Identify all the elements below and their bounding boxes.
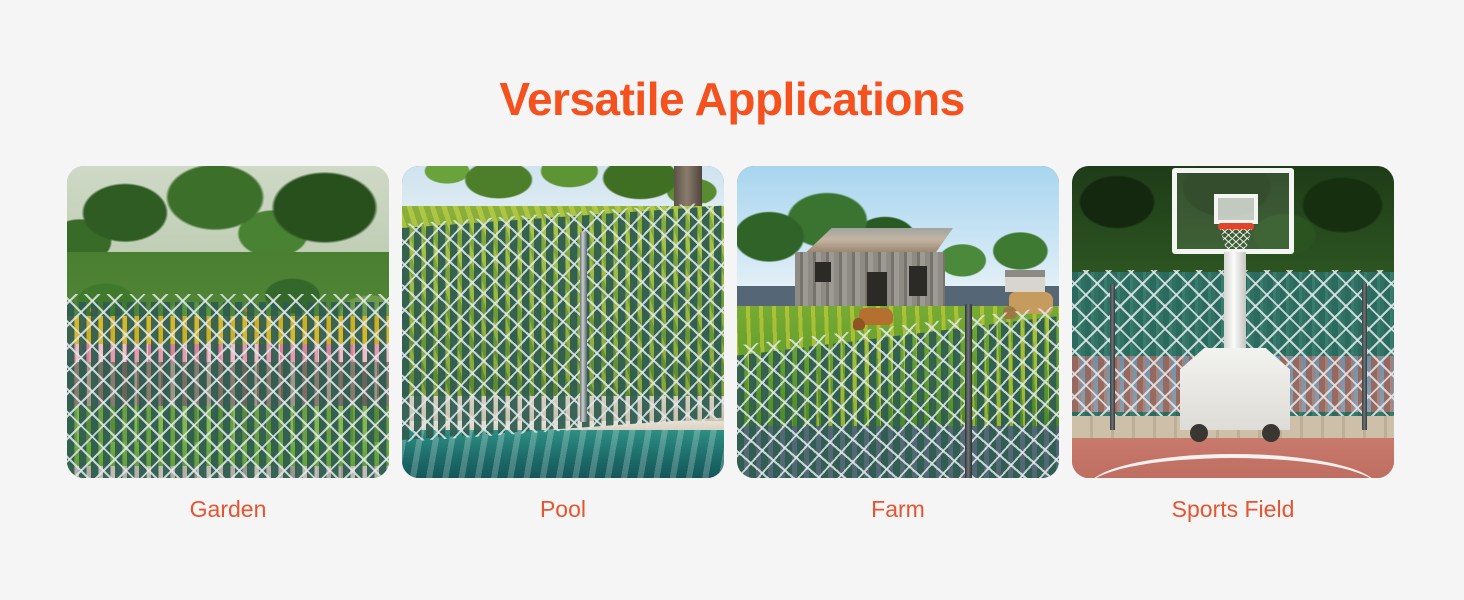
pool-fence-slats bbox=[402, 205, 724, 440]
basketball-hoop-wheel bbox=[1262, 424, 1280, 442]
basketball-hoop-wheel bbox=[1190, 424, 1208, 442]
farm-photo bbox=[737, 166, 1059, 478]
farm-fence-post bbox=[965, 304, 972, 478]
application-card-grid: Garden Pool bbox=[67, 166, 1397, 524]
page-title: Versatile Applications bbox=[0, 70, 1464, 128]
pool-photo bbox=[402, 166, 724, 478]
basketball-rim bbox=[1218, 223, 1254, 230]
card-caption-sports-field: Sports Field bbox=[1172, 494, 1295, 524]
garden-fence-slats bbox=[67, 302, 389, 478]
application-card-pool[interactable]: Pool bbox=[402, 166, 724, 524]
farm-distant-house bbox=[1005, 270, 1045, 292]
farm-cow-head bbox=[853, 318, 865, 330]
farm-barn-door bbox=[867, 272, 887, 306]
application-card-sports-field[interactable]: Sports Field bbox=[1072, 166, 1394, 524]
card-caption-pool: Pool bbox=[540, 494, 586, 524]
sports-fence-post bbox=[1110, 284, 1115, 430]
garden-photo bbox=[67, 166, 389, 478]
application-card-farm[interactable]: Farm bbox=[737, 166, 1059, 524]
card-caption-farm: Farm bbox=[871, 494, 925, 524]
sports-field-photo bbox=[1072, 166, 1394, 478]
farm-barn-door bbox=[909, 266, 927, 296]
basketball-backboard-square bbox=[1214, 194, 1258, 224]
pool-water bbox=[402, 430, 724, 478]
card-caption-garden: Garden bbox=[190, 494, 267, 524]
farm-barn-door bbox=[815, 262, 831, 282]
pool-fence-post bbox=[580, 232, 587, 422]
farm-cow-head bbox=[1003, 306, 1017, 319]
sports-fence-post bbox=[1362, 284, 1367, 430]
versatile-applications-banner: Versatile Applications Garden bbox=[0, 0, 1464, 600]
application-card-garden[interactable]: Garden bbox=[67, 166, 389, 524]
basketball-hoop-base bbox=[1180, 348, 1290, 430]
